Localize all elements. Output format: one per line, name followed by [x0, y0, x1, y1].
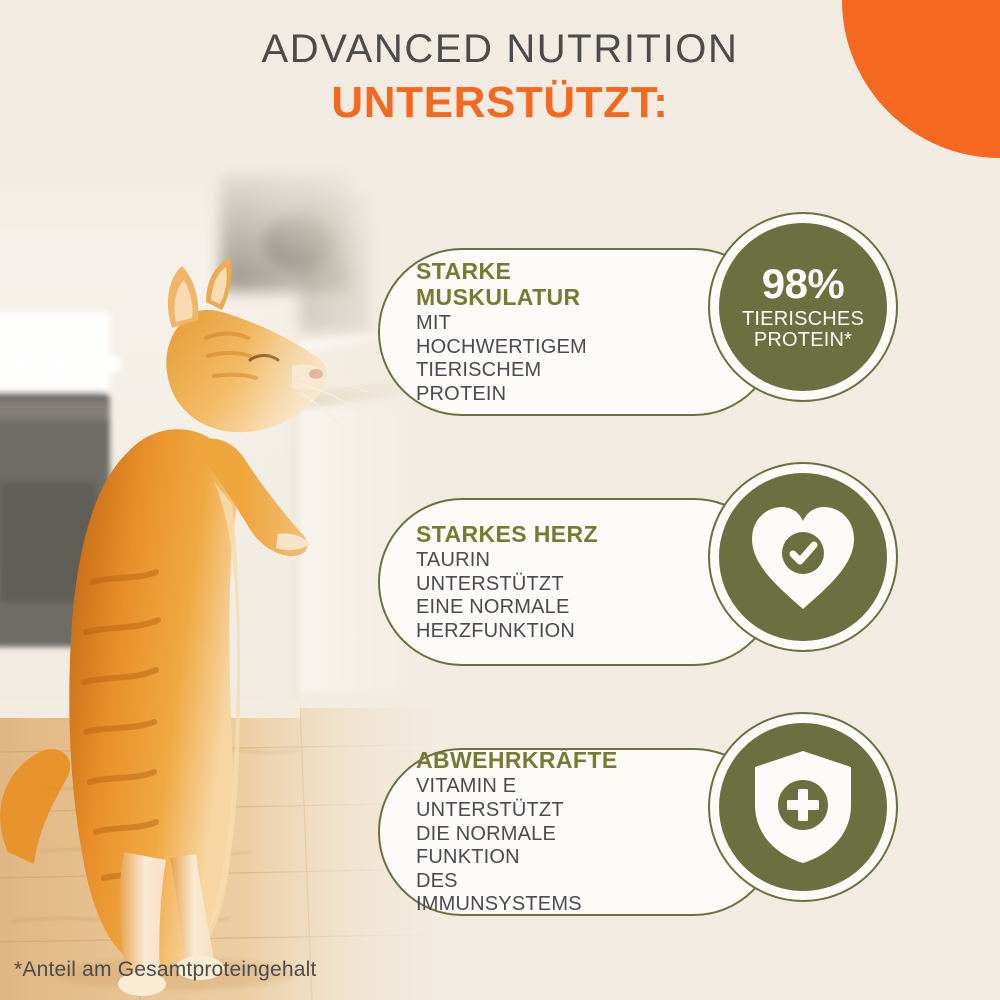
poster-canvas: ADVANCED NUTRITION UNTERSTÜTZT: STARKE M… — [0, 0, 1000, 1000]
badge-percentage-value: 98% — [762, 263, 845, 305]
badge-percentage-label: TIERISCHES PROTEIN* — [742, 309, 864, 351]
benefit-body-line-2: DIE NORMALE FUNKTION — [416, 823, 626, 870]
heart-check-icon — [744, 501, 862, 613]
benefit-body-line-3: DES IMMUNSYSTEMS — [416, 870, 626, 917]
benefit-heading-line-1: ABWEHRKRÄFTE — [416, 747, 626, 773]
benefit-body-line-2: TIERISCHEM PROTEIN — [416, 359, 626, 406]
benefit-body-line-2: EINE NORMALE — [416, 596, 626, 620]
benefit-heading-line-1: STARKES HERZ — [416, 521, 626, 547]
badge-label-line-1: TIERISCHES — [742, 309, 864, 330]
benefit-heading: STARKES HERZ — [416, 521, 626, 547]
badge-label-line-2: PROTEIN* — [742, 330, 864, 351]
benefit-body: VITAMIN E UNTERSTÜTZT DIE NORMALE FUNKTI… — [416, 775, 626, 917]
title-line-advanced-nutrition: ADVANCED NUTRITION — [0, 26, 1000, 72]
shield-plus-icon — [747, 747, 859, 867]
benefit-body-line-1: TAURIN UNTERSTÜTZT — [416, 549, 626, 596]
benefit-heading: STARKE MUSKULATUR — [416, 258, 626, 310]
benefit-heading-line-1: STARKE — [416, 258, 626, 284]
benefit-heading-line-2: MUSKULATUR — [416, 284, 626, 310]
benefit-body: MIT HOCHWERTIGEM TIERISCHEM PROTEIN — [416, 312, 626, 406]
benefit-body-line-3: HERZFUNKTION — [416, 620, 626, 644]
page-title: ADVANCED NUTRITION UNTERSTÜTZT: — [0, 26, 1000, 129]
benefit-body-line-1: VITAMIN E UNTERSTÜTZT — [416, 775, 626, 822]
footnote-text: *Anteil am Gesamtproteingehalt — [14, 958, 317, 982]
benefit-body: TAURIN UNTERSTÜTZT EINE NORMALE HERZFUNK… — [416, 549, 626, 643]
title-line-unterstuetzt: UNTERSTÜTZT: — [0, 78, 1000, 129]
protein-percentage-badge: 98% TIERISCHES PROTEIN* — [710, 214, 896, 400]
benefit-body-line-1: MIT HOCHWERTIGEM — [416, 312, 626, 359]
heart-check-badge — [710, 464, 896, 650]
benefit-heading: ABWEHRKRÄFTE — [416, 747, 626, 773]
shield-plus-badge — [710, 714, 896, 900]
